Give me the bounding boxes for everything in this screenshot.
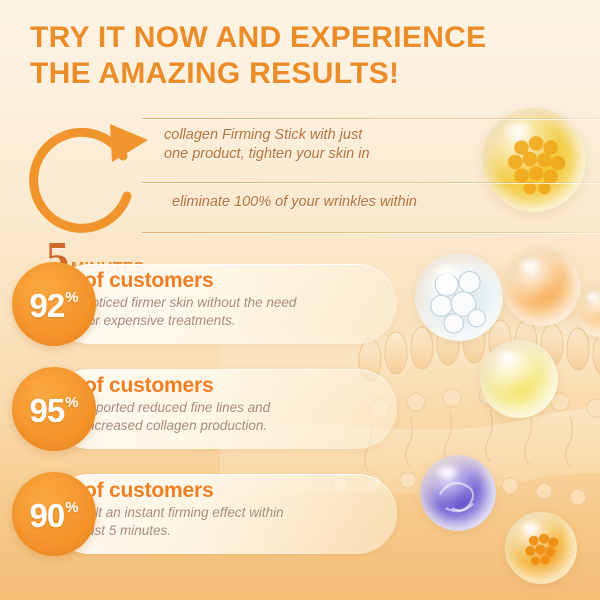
stat-text: of customers noticed firmer skin without… [84,269,379,329]
stat-badge: 92 % [12,262,96,346]
swirl-pattern-icon [420,455,496,531]
stat-description-line-2: just 5 minutes. [84,522,379,540]
stat-description: noticed firmer skin without the need for… [84,294,379,329]
stat-percent-value: 95 [29,394,64,427]
stat-text: of customers reported reduced fine lines… [84,374,379,434]
purple-sphere-icon [420,455,496,531]
time-block: collagen Firming Stick with just one pro… [14,110,600,242]
headline: TRY IT NOW AND EXPERIENCE THE AMAZING RE… [30,20,570,92]
stat-description-line-2: for expensive treatments. [84,312,379,330]
stat-percent-value: 92 [29,289,64,322]
stat-description: reported reduced fine lines and increase… [84,399,379,434]
divider-line-3 [142,232,600,233]
stat-row: of customers reported reduced fine lines… [12,367,397,451]
stat-percent-symbol: % [65,290,78,305]
stat-description-line-1: noticed firmer skin without the need [84,294,379,312]
stat-title: of customers [84,269,379,292]
stat-description-line-1: felt an instant firming effect within [84,504,379,522]
stat-text: of customers felt an instant firming eff… [84,479,379,539]
divider-line-2 [142,182,600,183]
time-rules: collagen Firming Stick with just one pro… [142,110,600,242]
time-text-2-line-1: eliminate 100% of your wrinkles within [172,193,417,212]
stat-row: of customers noticed firmer skin without… [12,262,397,346]
time-text-1-line-1: collagen Firming Stick with just [164,126,370,145]
headline-line-1: TRY IT NOW AND EXPERIENCE [30,20,570,56]
time-text-1: collagen Firming Stick with just one pro… [164,126,370,164]
edge-sphere-icon [575,285,600,337]
stat-description-line-2: increased collagen production. [84,417,379,435]
divider-line-1 [142,118,600,119]
time-text-1-line-2: one product, tighten your skin in [164,145,370,164]
headline-line-2: THE AMAZING RESULTS! [30,56,570,92]
stat-title: of customers [84,374,379,397]
stat-title: of customers [84,479,379,502]
stat-description-line-1: reported reduced fine lines and [84,399,379,417]
water-bubble-sphere-icon [415,253,503,341]
peach-sphere-icon [503,248,581,326]
stat-percent-symbol: % [65,500,78,515]
stat-percent-value: 90 [29,499,64,532]
time-text-2: eliminate 100% of your wrinkles within [172,193,417,212]
stat-badge: 95 % [12,367,96,451]
stat-row: of customers felt an instant firming eff… [12,472,397,556]
bubble-cluster-icon [415,253,503,341]
circular-arrow-icon [14,110,160,242]
yellow-sphere-mid-icon [480,340,558,418]
honeycomb-sphere-bottom-icon [505,512,577,584]
promo-poster: TRY IT NOW AND EXPERIENCE THE AMAZING RE… [0,0,600,600]
stat-badge: 90 % [12,472,96,556]
stat-percent-symbol: % [65,395,78,410]
stat-description: felt an instant firming effect within ju… [84,504,379,539]
honeycomb-pattern-bottom-icon [505,512,577,584]
